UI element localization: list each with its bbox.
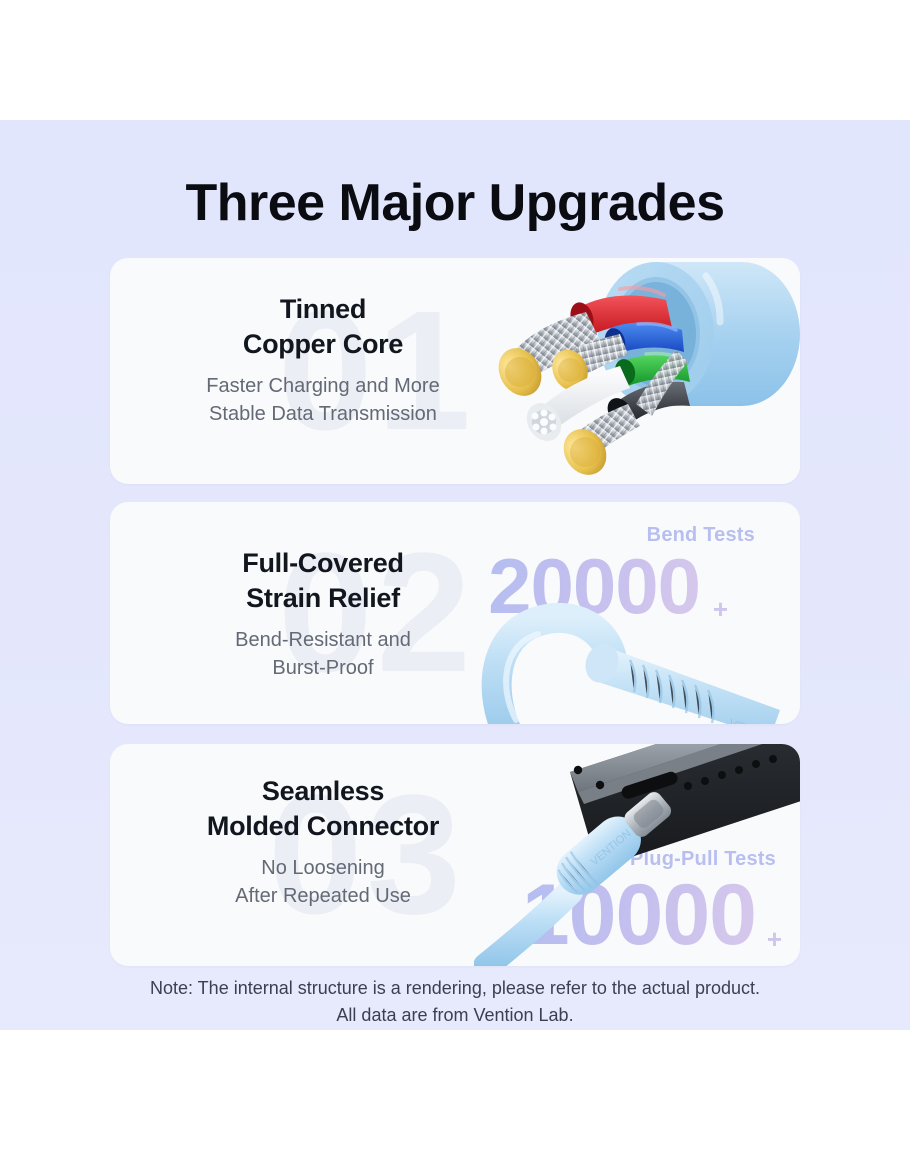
infographic-page: Three Major Upgrades 01 Tinned Copper Co… [0,0,910,1155]
card-2-desc-line2: Burst-Proof [272,657,373,679]
upgrade-card-2: 02 Full-Covered Strain Relief Bend-Resis… [110,502,800,724]
bend-tests-label: Bend Tests [647,524,755,547]
card-1-title: Tinned Copper Core [128,292,518,361]
card-2-title-line2: Strain Relief [246,583,400,613]
card-2-title-line1: Full-Covered [242,548,403,578]
card-3-description: No Loosening After Repeated Use [128,855,518,910]
card-3-desc-line2: After Repeated Use [235,885,411,907]
card-1-desc-line1: Faster Charging and More [206,375,439,397]
card-3-title-line1: Seamless [262,776,384,806]
card-1-description: Faster Charging and More Stable Data Tra… [128,373,518,428]
card-3-title-line2: Molded Connector [207,811,439,841]
card-1-desc-line2: Stable Data Transmission [209,403,437,425]
card-1-text-block: Tinned Copper Core Faster Charging and M… [128,292,518,428]
phone-usbc-plug-image: VENTION [474,744,800,966]
card-1-title-line1: Tinned [280,294,366,324]
plug-pull-test-art: Plug-Pull Tests 10000 + [470,744,800,966]
page-title: Three Major Upgrades [0,176,910,231]
bent-cable-image: VENTION [480,588,800,724]
cable-cross-section-image [470,258,800,484]
card-3-text-block: Seamless Molded Connector No Loosening A… [128,774,518,910]
upgrade-card-3: 03 Seamless Molded Connector No Loosenin… [110,744,800,966]
footer-note: Note: The internal structure is a render… [0,975,910,1029]
card-2-title: Full-Covered Strain Relief [128,546,518,615]
card-1-title-line2: Copper Core [243,329,403,359]
card-3-desc-line1: No Loosening [261,857,384,879]
footer-note-line1: Note: The internal structure is a render… [150,978,760,998]
card-2-desc-line1: Bend-Resistant and [235,629,411,651]
bend-test-art: Bend Tests 20000 + [470,502,800,724]
footer-note-line2: All data are from Vention Lab. [336,1005,573,1025]
card-3-title: Seamless Molded Connector [128,774,518,843]
upgrade-card-1: 01 Tinned Copper Core Faster Charging an… [110,258,800,484]
card-2-text-block: Full-Covered Strain Relief Bend-Resistan… [128,546,518,682]
card-2-description: Bend-Resistant and Burst-Proof [128,627,518,682]
